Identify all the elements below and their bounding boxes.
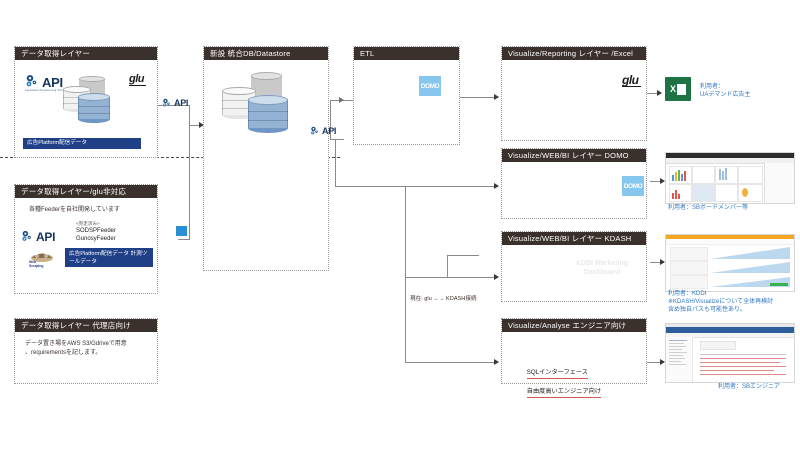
thumb-bar <box>722 171 724 180</box>
db-cylinder-blue <box>78 93 110 123</box>
thumb-bar <box>725 168 727 180</box>
excel-x-glyph: X <box>670 85 676 94</box>
api-icon-label: API <box>174 99 188 108</box>
api-icon: API <box>21 230 55 244</box>
thumb-area-chart <box>710 246 790 259</box>
annotation-current-glu-kdash: 現在: glu ←→ KDASH接続 <box>410 294 477 302</box>
domo-logo: DOMO <box>622 176 644 196</box>
thumb-bar <box>675 190 677 199</box>
glu-logo: glu <box>129 74 144 85</box>
thumbnail-kdash-dashboard[interactable] <box>665 234 795 292</box>
box-reporting-excel-body: glu <box>502 60 646 140</box>
box-integrated-datastore[interactable]: 新設 統合DB/Datastore <box>203 46 329 271</box>
api-gear-icon <box>25 74 41 90</box>
api-gear-icon <box>21 230 35 244</box>
box-analyse-engineer-header: Visualize/Analyse エンジニア向け <box>502 319 646 332</box>
api-gear-icon <box>310 126 321 137</box>
arrow-to-excel <box>657 90 662 96</box>
box-integrated-datastore-header: 新設 統合DB/Datastore <box>204 47 328 60</box>
thumb-sidebar-item <box>669 343 684 344</box>
nonglu-note: 各種Feederを自社開発しています <box>29 207 120 215</box>
box-data-acquisition-agency-header: データ取得レイヤー 代理店向け <box>15 319 157 332</box>
arrow-to-domo <box>494 183 499 189</box>
thumb-kpi-card <box>670 275 708 289</box>
thumb-widget <box>692 166 715 184</box>
tag-ad-platform-data: 広告Platform配信データ <box>23 138 141 149</box>
api-icon-label: API <box>36 231 55 243</box>
box-webbi-domo-body: DOMO <box>502 162 646 218</box>
thumb-sidebar-item <box>669 361 681 362</box>
thumb-query-field <box>700 341 736 350</box>
box-data-acquisition-body: API Application Programming Interface <box>15 60 157 157</box>
caption-engineer-users: 利用者：SBエンジニア <box>718 384 780 392</box>
box-data-acquisition-nonglu-header: データ取得レイヤー/glu非対応 <box>15 185 157 198</box>
thumb-kpi-card <box>670 261 708 275</box>
thumb-bar <box>681 174 683 181</box>
box-webbi-kdash-header: Visualize/WEB/BI レイヤー KDASH <box>502 232 646 245</box>
thumb-bar <box>675 172 677 181</box>
thumb-sidepanel <box>764 163 795 203</box>
thumb-bar <box>719 169 721 180</box>
excel-grid-glyph <box>677 84 686 95</box>
thumb-pie <box>742 188 748 197</box>
box-reporting-excel[interactable]: Visualize/Reporting レイヤー /Excel glu <box>501 46 647 141</box>
thumb-area-chart <box>710 260 790 273</box>
box-reporting-excel-header: Visualize/Reporting レイヤー /Excel <box>502 47 646 60</box>
thumb-bar <box>684 171 686 181</box>
box-analyse-engineer-body: SQLインターフェース 自由度高いエンジニア向け <box>502 332 646 383</box>
domo-logo: DOMO <box>419 76 441 96</box>
kdash-watermark: KDDI Marketing Dashboard <box>562 259 642 277</box>
arrow-to-etl <box>339 97 344 103</box>
box-analyse-engineer[interactable]: Visualize/Analyse エンジニア向け SQLインターフェース 自由… <box>501 318 647 384</box>
connector-trunk-to-kdash <box>405 277 498 278</box>
api-icon-label: API <box>322 127 336 136</box>
box-data-acquisition-nonglu-body: 各種Feederを自社開発しています <完走済み> SODSPFeeder Gu… <box>15 198 157 293</box>
thumb-sidebar-item <box>669 340 687 341</box>
connector-trunk-vertical <box>189 125 190 240</box>
tag-ad-platform-measurement: 広告Platform配信データ 計測ツールデータ <box>65 248 153 267</box>
thumb-result-row <box>700 362 780 363</box>
connector-distribution-trunk <box>405 186 406 362</box>
thumbnail-engineer-console[interactable] <box>665 323 795 383</box>
box-webbi-kdash[interactable]: Visualize/WEB/BI レイヤー KDASH KDDI Marketi… <box>501 231 647 302</box>
engineer-note-line-1: SQLインターフェース <box>527 369 588 379</box>
box-etl-header: ETL <box>354 47 459 60</box>
thumb-result-row <box>700 374 786 375</box>
box-data-acquisition-nonglu[interactable]: データ取得レイヤー/glu非対応 各種Feederを自社開発しています <完走済… <box>14 184 158 294</box>
thumb-result-row <box>700 366 786 367</box>
box-webbi-domo[interactable]: Visualize/WEB/BI レイヤー DOMO DOMO <box>501 148 647 219</box>
caption-kdash-users: 利用者：KDDI ※KDASH/Visualizeについて全体再検討 含め独自パ… <box>668 291 773 314</box>
thumb-status-bar <box>770 283 788 286</box>
api-icon: API <box>25 74 63 90</box>
thumb-kpi-card <box>670 247 708 261</box>
web-scraping-icon: Web Scraping <box>29 250 63 270</box>
feeder-item-sodspfeeder: SODSPFeeder <box>76 228 116 236</box>
thumb-widget <box>692 184 715 202</box>
thumb-result-row <box>700 370 774 371</box>
thumb-bar <box>672 175 674 181</box>
box-etl-body: DOMO <box>354 60 459 144</box>
db-cylinder-blue <box>248 95 288 133</box>
connector-kdash-return-vertical <box>447 255 448 277</box>
thumb-widget <box>738 166 763 184</box>
arrow-to-engineer <box>494 359 499 365</box>
thumb-result-row <box>700 354 786 355</box>
thumb-sidebar-item <box>669 352 687 353</box>
box-webbi-domo-header: Visualize/WEB/BI レイヤー DOMO <box>502 149 646 162</box>
feeder-item-gunosyfeeder: GunosyFeeder <box>76 236 116 244</box>
thumb-bar <box>678 170 680 181</box>
api-gear-icon <box>162 98 173 109</box>
connector-kdash-return-h <box>447 255 479 256</box>
connector-datastore-out <box>330 139 344 140</box>
box-data-acquisition-agency-body: データ置き場をAWS S3/Gdriveで用意 、requirementsを記し… <box>15 332 157 383</box>
excel-icon: X <box>665 77 691 101</box>
arrow-to-kdash <box>494 274 499 280</box>
thumb-sidebar-item <box>669 358 685 359</box>
connector-tile-icon <box>176 226 187 236</box>
box-etl[interactable]: ETL DOMO <box>353 46 460 145</box>
connector-trunk-to-engineer <box>405 362 498 363</box>
agency-note: データ置き場をAWS S3/Gdriveで用意 、requirementsを記し… <box>25 340 127 358</box>
api-icon-connector-top: API <box>162 98 188 109</box>
box-data-acquisition-header: データ取得レイヤー <box>15 47 157 60</box>
feeder-status-label: <完走済み> <box>76 221 100 227</box>
caption-domo-users: 利用者：SBボードメンバー等 <box>668 205 748 213</box>
api-icon-connector-right: API <box>310 126 336 137</box>
connector-etl-to-reporting <box>460 97 498 98</box>
thumb-sidebar-item <box>669 355 683 356</box>
connector-nonglu-to-trunk <box>178 239 190 240</box>
thumb-sidebar-item <box>669 346 686 347</box>
connector-datastore-down <box>335 139 336 187</box>
web-scraping-label: Web Scraping <box>29 261 44 268</box>
thumb-bar <box>672 193 674 199</box>
thumb-sidebar-item <box>669 349 682 350</box>
caption-excel-users: 利用者： UAデマンド広告主 <box>700 84 750 100</box>
box-data-acquisition-agency[interactable]: データ取得レイヤー 代理店向け データ置き場をAWS S3/Gdriveで用意 … <box>14 318 158 384</box>
arrow-to-reporting <box>494 94 499 100</box>
engineer-notes: SQLインターフェース 自由度高いエンジニア向け <box>513 360 601 407</box>
box-integrated-datastore-body <box>204 60 328 270</box>
thumb-toolbar <box>666 239 794 245</box>
box-webbi-kdash-body: KDDI Marketing Dashboard <box>502 245 646 301</box>
engineer-note-line-2: 自由度高いエンジニア向け <box>527 388 601 398</box>
connector-datastore-to-trunk <box>335 186 406 187</box>
connector-api-down <box>189 105 190 126</box>
glu-logo: glu <box>622 74 639 86</box>
thumb-widget <box>715 184 738 202</box>
box-data-acquisition[interactable]: データ取得レイヤー API Application Programming In… <box>14 46 158 158</box>
thumb-result-row <box>700 358 786 359</box>
thumb-bar <box>678 194 680 199</box>
api-icon-label: API <box>42 76 63 89</box>
thumbnail-domo-dashboard[interactable] <box>665 152 795 204</box>
connector-trunk-to-domo <box>405 186 498 187</box>
thumb-sidebar-item <box>669 364 686 365</box>
diagram-canvas: データ取得レイヤー API Application Programming In… <box>0 0 800 450</box>
api-icon-subtitle: Application Programming Interface <box>25 89 68 92</box>
